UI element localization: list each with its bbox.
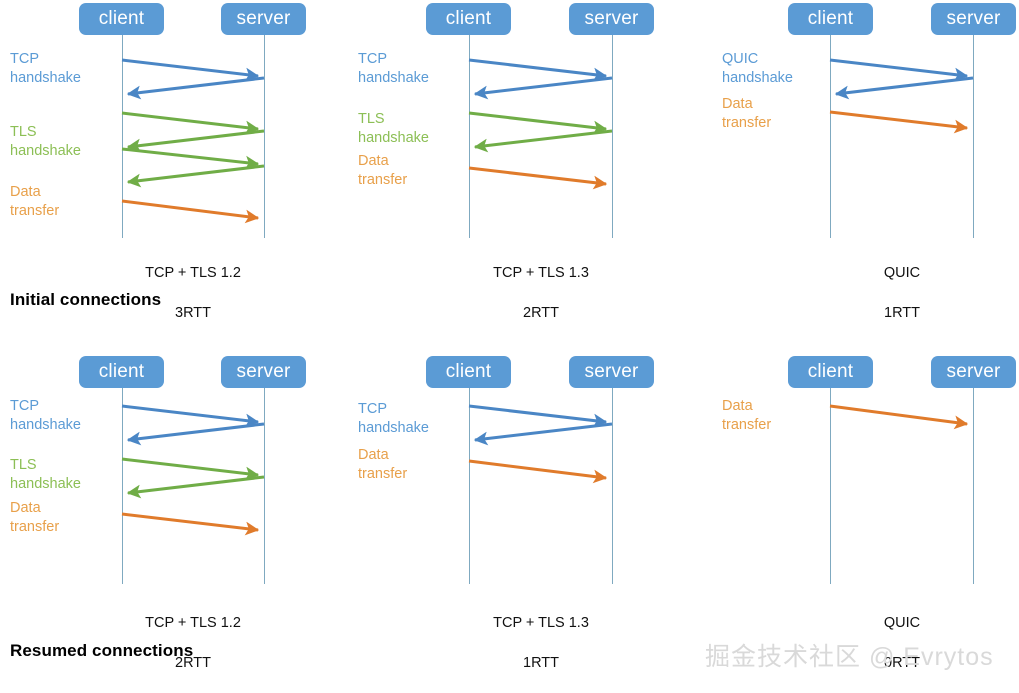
message-arrows bbox=[0, 0, 1019, 681]
caption-protocol: QUIC bbox=[812, 613, 992, 633]
arrow-data bbox=[830, 406, 967, 424]
diagram-canvas: client server bbox=[0, 0, 1019, 681]
label-data-transfer: Data transfer bbox=[722, 397, 771, 435]
watermark: 掘金技术社区 @ Evrytos bbox=[705, 637, 994, 673]
row-title-resumed: Resumed connections bbox=[10, 641, 193, 661]
